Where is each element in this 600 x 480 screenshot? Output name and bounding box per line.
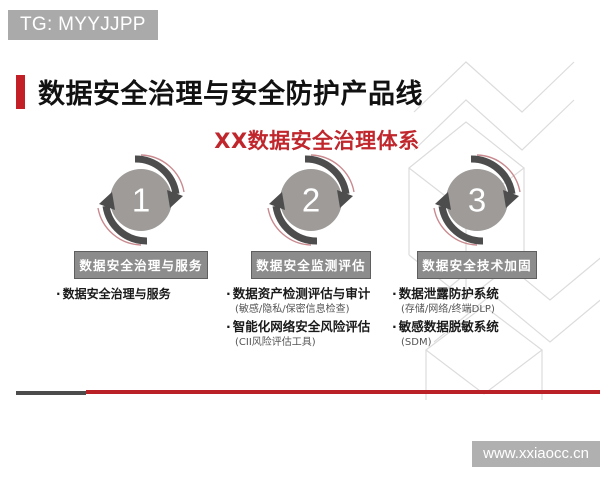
step-column-2: 2 数据安全监测评估 ·数据资产检测评估与审计 (敏感/隐私/保密信息检查) ·…	[222, 150, 400, 352]
bullet-dot-icon: ·	[56, 287, 61, 301]
list-item: ·智能化网络安全风险评估 (CII风险评估工具)	[226, 319, 400, 350]
watermark: www.xxiaocc.cn	[472, 441, 600, 467]
cycle-arrows-icon: 1	[91, 150, 191, 250]
page-title: 数据安全治理与安全防护产品线	[16, 72, 423, 111]
bullet-label: 敏感数据脱敏系统	[399, 319, 499, 334]
step-number-2: 2	[302, 182, 320, 219]
footer-rule-red	[86, 390, 600, 394]
step-label-holder-1: 数据安全治理与服务	[52, 250, 230, 279]
step-bullets-2: ·数据资产检测评估与审计 (敏感/隐私/保密信息检查) ·智能化网络安全风险评估…	[222, 286, 400, 350]
bullet-label: 智能化网络安全风险评估	[233, 319, 371, 334]
step-number-3: 3	[468, 182, 486, 219]
list-item: ·数据安全治理与服务	[56, 286, 230, 302]
footer-rule-gray	[16, 391, 86, 395]
step-column-3: 3 数据安全技术加固 ·数据泄露防护系统 (存储/网络/终端DLP) ·敏感数据…	[388, 150, 566, 352]
bullet-sub-text: (存储/网络/终端DLP)	[392, 302, 566, 317]
step-label-1: 数据安全治理与服务	[74, 251, 207, 279]
step-circle-2: 2	[222, 150, 400, 250]
step-circle-3: 3	[388, 150, 566, 250]
cycle-arrows-icon: 3	[427, 150, 527, 250]
step-label-3: 数据安全技术加固	[417, 251, 537, 279]
cycle-arrows-icon: 2	[261, 150, 361, 250]
bullet-dot-icon: ·	[392, 286, 397, 301]
step-column-1: 1 数据安全治理与服务 ·数据安全治理与服务	[52, 150, 230, 304]
step-number-1: 1	[132, 182, 150, 219]
step-label-holder-2: 数据安全监测评估	[222, 250, 400, 279]
bullet-sub-text: (SDM)	[392, 335, 566, 350]
bullet-main-text: ·智能化网络安全风险评估	[226, 319, 400, 335]
bullet-label: 数据资产检测评估与审计	[233, 286, 371, 301]
list-item: ·敏感数据脱敏系统 (SDM)	[392, 319, 566, 350]
page-subtitle: XX数据安全治理体系	[0, 125, 600, 155]
title-text: 数据安全治理与安全防护产品线	[38, 72, 423, 111]
step-bullets-3: ·数据泄露防护系统 (存储/网络/终端DLP) ·敏感数据脱敏系统 (SDM)	[388, 286, 566, 350]
bullet-label: 数据泄露防护系统	[399, 286, 499, 301]
slide-canvas: TG: MYYJJPP 数据安全治理与安全防护产品线 XX数据安全治理体系 1	[0, 0, 600, 480]
list-item: ·数据资产检测评估与审计 (敏感/隐私/保密信息检查)	[226, 286, 400, 317]
bullet-main-text: ·数据泄露防护系统	[392, 286, 566, 302]
tg-badge: TG: MYYJJPP	[8, 10, 158, 40]
step-label-holder-3: 数据安全技术加固	[388, 250, 566, 279]
bullet-sub-text: (敏感/隐私/保密信息检查)	[226, 302, 400, 317]
step-label-2: 数据安全监测评估	[251, 251, 371, 279]
steps-container: 1 数据安全治理与服务 ·数据安全治理与服务	[0, 150, 600, 360]
bullet-main-text: ·敏感数据脱敏系统	[392, 319, 566, 335]
bullet-dot-icon: ·	[392, 319, 397, 334]
title-accent-bar	[16, 75, 25, 109]
bullet-label: 数据安全治理与服务	[63, 287, 171, 301]
step-circle-1: 1	[52, 150, 230, 250]
bullet-main-text: ·数据安全治理与服务	[56, 286, 230, 302]
list-item: ·数据泄露防护系统 (存储/网络/终端DLP)	[392, 286, 566, 317]
bullet-main-text: ·数据资产检测评估与审计	[226, 286, 400, 302]
bullet-sub-text: (CII风险评估工具)	[226, 335, 400, 350]
bullet-dot-icon: ·	[226, 286, 231, 301]
step-bullets-1: ·数据安全治理与服务	[52, 286, 230, 302]
bullet-dot-icon: ·	[226, 319, 231, 334]
